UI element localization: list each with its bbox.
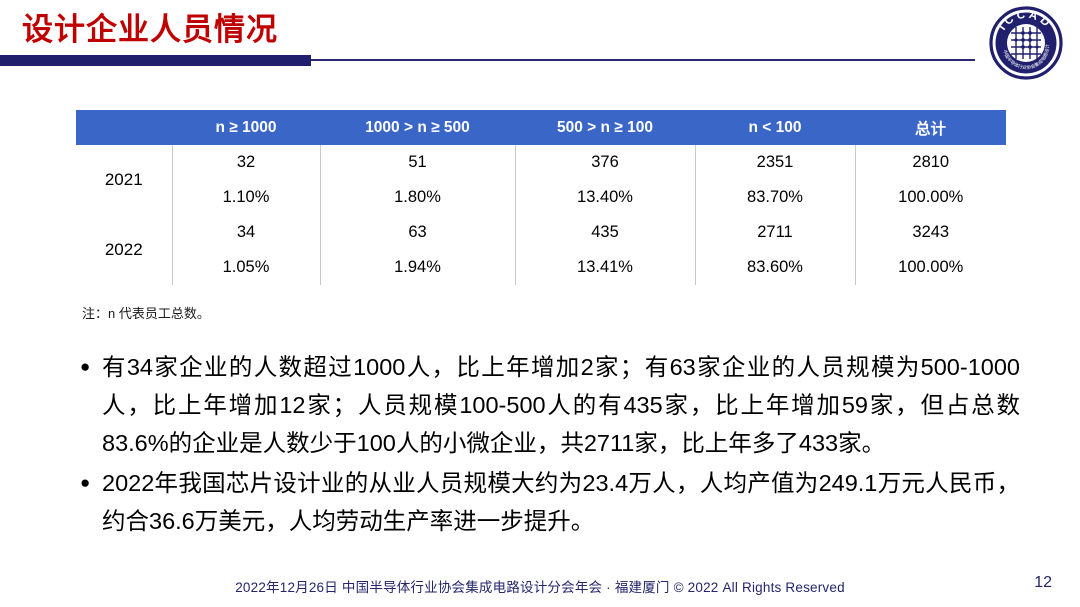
table-row: 2022 34 63 435 2711 3243: [76, 215, 1006, 250]
list-item: ● 2022年我国芯片设计业的从业人员规模大约为23.4万人，人均产值为249.…: [80, 464, 1020, 540]
cell-pct-total: 100.00%: [855, 250, 1006, 285]
table-header-total: 总计: [855, 110, 1006, 145]
cell-count-lt100: 2711: [695, 215, 855, 250]
table-header-ge1000: n ≥ 1000: [172, 110, 320, 145]
cell-count-total: 2810: [855, 145, 1006, 180]
bullet-list: ● 有34家企业的人数超过1000人，比上年增加2家；有63家企业的人员规模为5…: [80, 348, 1020, 542]
cell-pct-ge1000: 1.05%: [172, 250, 320, 285]
cell-count-500to1000: 63: [320, 215, 515, 250]
cell-count-ge1000: 34: [172, 215, 320, 250]
cell-pct-total: 100.00%: [855, 180, 1006, 215]
cell-pct-500to1000: 1.94%: [320, 250, 515, 285]
bullet-text: 有34家企业的人数超过1000人，比上年增加2家；有63家企业的人员规模为500…: [102, 348, 1020, 462]
iccad-logo-icon: ICCAD 中国半导体行业协会集成电路设计分会: [989, 6, 1063, 80]
bullet-dot-icon: ●: [80, 464, 102, 502]
title-accent-bar-thick: [0, 55, 311, 66]
page-number: 12: [1034, 574, 1052, 592]
cell-count-ge1000: 32: [172, 145, 320, 180]
cell-pct-lt100: 83.60%: [695, 250, 855, 285]
table-header-100to500: 500 > n ≥ 100: [515, 110, 695, 145]
cell-count-500to1000: 51: [320, 145, 515, 180]
table-row: 1.10% 1.80% 13.40% 83.70% 100.00%: [76, 180, 1006, 215]
table-header-500to1000: 1000 > n ≥ 500: [320, 110, 515, 145]
cell-pct-100to500: 13.41%: [515, 250, 695, 285]
bullet-dot-icon: ●: [80, 348, 102, 386]
cell-pct-ge1000: 1.10%: [172, 180, 320, 215]
cell-count-total: 3243: [855, 215, 1006, 250]
personnel-scale-table: n ≥ 1000 1000 > n ≥ 500 500 > n ≥ 100 n …: [76, 110, 1006, 285]
table-row: 1.05% 1.94% 13.41% 83.60% 100.00%: [76, 250, 1006, 285]
cell-count-100to500: 435: [515, 215, 695, 250]
footer-copyright: 2022年12月26日 中国半导体行业协会集成电路设计分会年会 · 福建厦门 ©…: [0, 576, 1080, 596]
bullet-text: 2022年我国芯片设计业的从业人员规模大约为23.4万人，人均产值为249.1万…: [102, 464, 1020, 540]
cell-count-100to500: 376: [515, 145, 695, 180]
iccad-logo: ICCAD 中国半导体行业协会集成电路设计分会: [989, 6, 1063, 80]
cell-pct-lt100: 83.70%: [695, 180, 855, 215]
cell-pct-500to1000: 1.80%: [320, 180, 515, 215]
row-year-label: 2021: [76, 145, 172, 215]
table-note: 注：n 代表员工总数。: [82, 303, 210, 322]
page-title: 设计企业人员情况: [22, 8, 278, 52]
cell-count-lt100: 2351: [695, 145, 855, 180]
table-header-row: n ≥ 1000 1000 > n ≥ 500 500 > n ≥ 100 n …: [76, 110, 1006, 145]
table-row: 2021 32 51 376 2351 2810: [76, 145, 1006, 180]
cell-pct-100to500: 13.40%: [515, 180, 695, 215]
title-accent-bar-thin: [311, 59, 975, 61]
table-header-lt100: n < 100: [695, 110, 855, 145]
list-item: ● 有34家企业的人数超过1000人，比上年增加2家；有63家企业的人员规模为5…: [80, 348, 1020, 462]
row-year-label: 2022: [76, 215, 172, 285]
table-header-year: [76, 110, 172, 145]
